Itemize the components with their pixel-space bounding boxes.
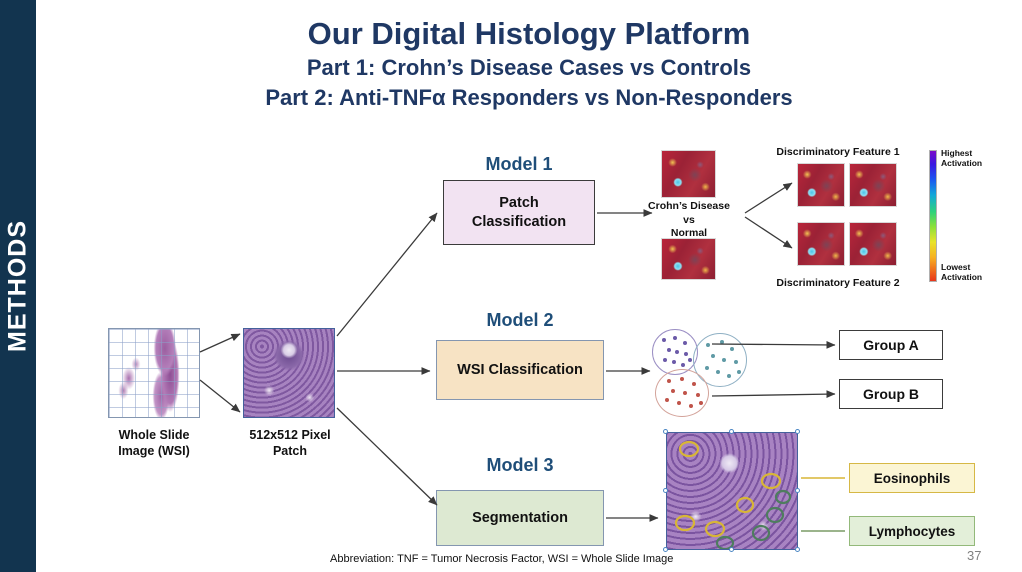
resize-handle-se[interactable] — [795, 547, 800, 552]
activation-colorbar — [929, 150, 937, 282]
patch-caption-line-1: 512x512 Pixel — [226, 428, 354, 444]
feature-1-heatmap-b — [849, 163, 897, 207]
model-1-box-line-1: Patch — [472, 194, 566, 212]
model-2-label: Model 2 — [436, 310, 604, 331]
arrow-clusters-to-group-b — [712, 394, 835, 396]
page-number: 37 — [967, 548, 981, 563]
group-b-label: Group B — [863, 386, 919, 402]
heatmap-crohns — [661, 150, 716, 198]
resize-handle-w[interactable] — [663, 488, 668, 493]
resize-handle-nw[interactable] — [663, 429, 668, 434]
colorbar-low-line-1: Lowest — [941, 262, 1003, 272]
group-a-box[interactable]: Group A — [839, 330, 943, 360]
model-1-box[interactable]: Patch Classification — [443, 180, 595, 245]
resize-handle-s[interactable] — [729, 547, 734, 552]
patch-caption: 512x512 Pixel Patch — [226, 428, 354, 459]
group-a-label: Group A — [863, 337, 918, 353]
subtitle-part-1: Part 1: Crohn’s Disease Cases vs Control… — [36, 54, 1022, 82]
model-1-output-line-2: vs — [631, 214, 747, 228]
arrow-wsi-to-patch-bottom — [200, 380, 240, 412]
group-b-box[interactable]: Group B — [839, 379, 943, 409]
cluster-red — [655, 369, 709, 417]
model-1-output-line-1: Crohn’s Disease — [631, 200, 747, 214]
resize-handle-sw[interactable] — [663, 547, 668, 552]
segmentation-annotations — [667, 433, 798, 550]
lymphocytes-legend-box[interactable]: Lymphocytes — [849, 516, 975, 546]
patch-caption-line-2: Patch — [226, 444, 354, 460]
feature-2-heatmap-b — [849, 222, 897, 266]
sidebar: METHODS — [0, 0, 36, 572]
model-2-box-text: WSI Classification — [457, 361, 583, 379]
subtitle-part-2: Part 2: Anti-TNFα Responders vs Non-Resp… — [36, 84, 1022, 112]
title-block: Our Digital Histology Platform Part 1: C… — [36, 16, 1022, 112]
heatmap-normal — [661, 238, 716, 280]
sidebar-section-label: METHODS — [4, 220, 33, 352]
patch-image-thumbnail — [243, 328, 335, 418]
cluster-purple — [652, 329, 698, 375]
arrow-output-to-feature-1 — [745, 183, 792, 213]
model-3-box[interactable]: Segmentation — [436, 490, 604, 546]
model-3-label: Model 3 — [436, 455, 604, 476]
colorbar-low-label: Lowest Activation — [941, 262, 1003, 282]
page-title: Our Digital Histology Platform — [36, 16, 1022, 52]
colorbar-high-line-1: Highest — [941, 148, 1003, 158]
model-2-box[interactable]: WSI Classification — [436, 340, 604, 400]
lymphocytes-label: Lymphocytes — [869, 524, 956, 539]
abbreviation-footnote: Abbreviation: TNF = Tumor Necrosis Facto… — [330, 553, 673, 565]
wsi-caption: Whole Slide Image (WSI) — [90, 428, 218, 459]
eosinophils-label: Eosinophils — [874, 471, 951, 486]
discriminatory-feature-1-label: Discriminatory Feature 1 — [760, 146, 916, 160]
model-1-label: Model 1 — [443, 154, 595, 175]
wsi-caption-line-2: Image (WSI) — [90, 444, 218, 460]
segmentation-output-image[interactable] — [666, 432, 798, 550]
resize-handle-n[interactable] — [729, 429, 734, 434]
resize-handle-e[interactable] — [795, 488, 800, 493]
model-1-output-label: Crohn’s Disease vs Normal — [631, 200, 747, 241]
discriminatory-feature-2-label: Discriminatory Feature 2 — [760, 277, 916, 291]
feature-2-heatmap-a — [797, 222, 845, 266]
whole-slide-image-thumbnail — [108, 328, 200, 418]
model-3-box-text: Segmentation — [472, 509, 568, 527]
wsi-caption-line-1: Whole Slide — [90, 428, 218, 444]
arrow-output-to-feature-2 — [745, 217, 792, 248]
eosinophils-legend-box[interactable]: Eosinophils — [849, 463, 975, 493]
arrow-patch-to-model-1 — [337, 213, 437, 336]
colorbar-high-line-2: Activation — [941, 158, 1003, 168]
feature-1-heatmap-a — [797, 163, 845, 207]
model-1-box-line-2: Classification — [472, 213, 566, 231]
arrow-wsi-to-patch-top — [200, 334, 240, 352]
colorbar-high-label: Highest Activation — [941, 148, 1003, 168]
resize-handle-ne[interactable] — [795, 429, 800, 434]
colorbar-low-line-2: Activation — [941, 272, 1003, 282]
